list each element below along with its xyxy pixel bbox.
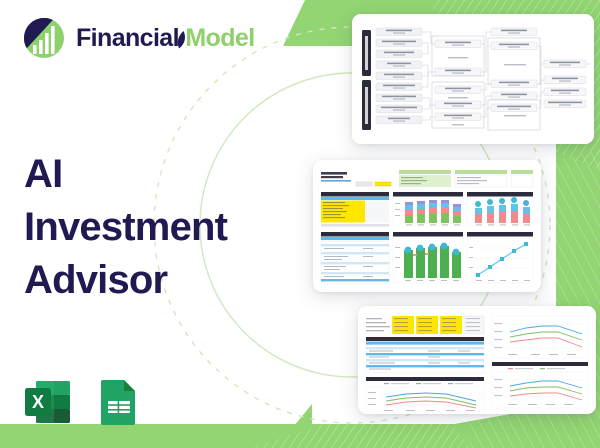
dupont-diagram	[352, 14, 594, 144]
brand-word-financial: Financial	[76, 24, 179, 52]
chart-revenue-scenario	[492, 316, 588, 358]
headline-line-2: Investment	[24, 201, 227, 254]
circle-bar-chart-logo-icon	[22, 16, 66, 60]
app-icons-row: X	[22, 377, 145, 429]
svg-text:X: X	[32, 392, 44, 412]
microsoft-excel-icon[interactable]: X	[22, 377, 74, 429]
headline-line-1: AI	[24, 148, 227, 201]
google-sheets-icon[interactable]	[93, 377, 145, 429]
chart-netincome-scenario	[492, 372, 588, 408]
dupont-analysis-card[interactable]	[352, 14, 594, 144]
panel-cost-analysis	[321, 192, 389, 227]
dashboard-screenshot	[313, 160, 541, 292]
dupont-column-balance	[376, 94, 422, 124]
chart-investment-payback	[467, 232, 533, 283]
dupont-column-roa	[544, 60, 586, 108]
leaf-accent-icon	[175, 30, 187, 50]
brand-word-model: Model	[185, 24, 254, 52]
panel-core-financials	[321, 232, 389, 283]
netincome-chart-header	[492, 362, 588, 366]
page-title: AI Investment Advisor	[24, 148, 227, 306]
financial-dashboard-card[interactable]	[313, 160, 541, 292]
chart-ebitda-scenario	[366, 387, 484, 412]
dashboard-top-panels	[399, 170, 533, 187]
brand-logo[interactable]: Financial Model	[22, 16, 255, 60]
poster-canvas: Financial Model AI Investment Advisor X	[0, 0, 600, 448]
brand-wordmark: Financial Model	[76, 26, 255, 51]
scenario-charts-card[interactable]	[358, 306, 596, 414]
scenario-screenshot	[358, 306, 596, 414]
headline-line-3: Advisor	[24, 254, 227, 307]
panel-projections	[366, 337, 484, 373]
ebitda-chart-header	[366, 377, 484, 381]
chart-cash-flow	[393, 232, 463, 283]
